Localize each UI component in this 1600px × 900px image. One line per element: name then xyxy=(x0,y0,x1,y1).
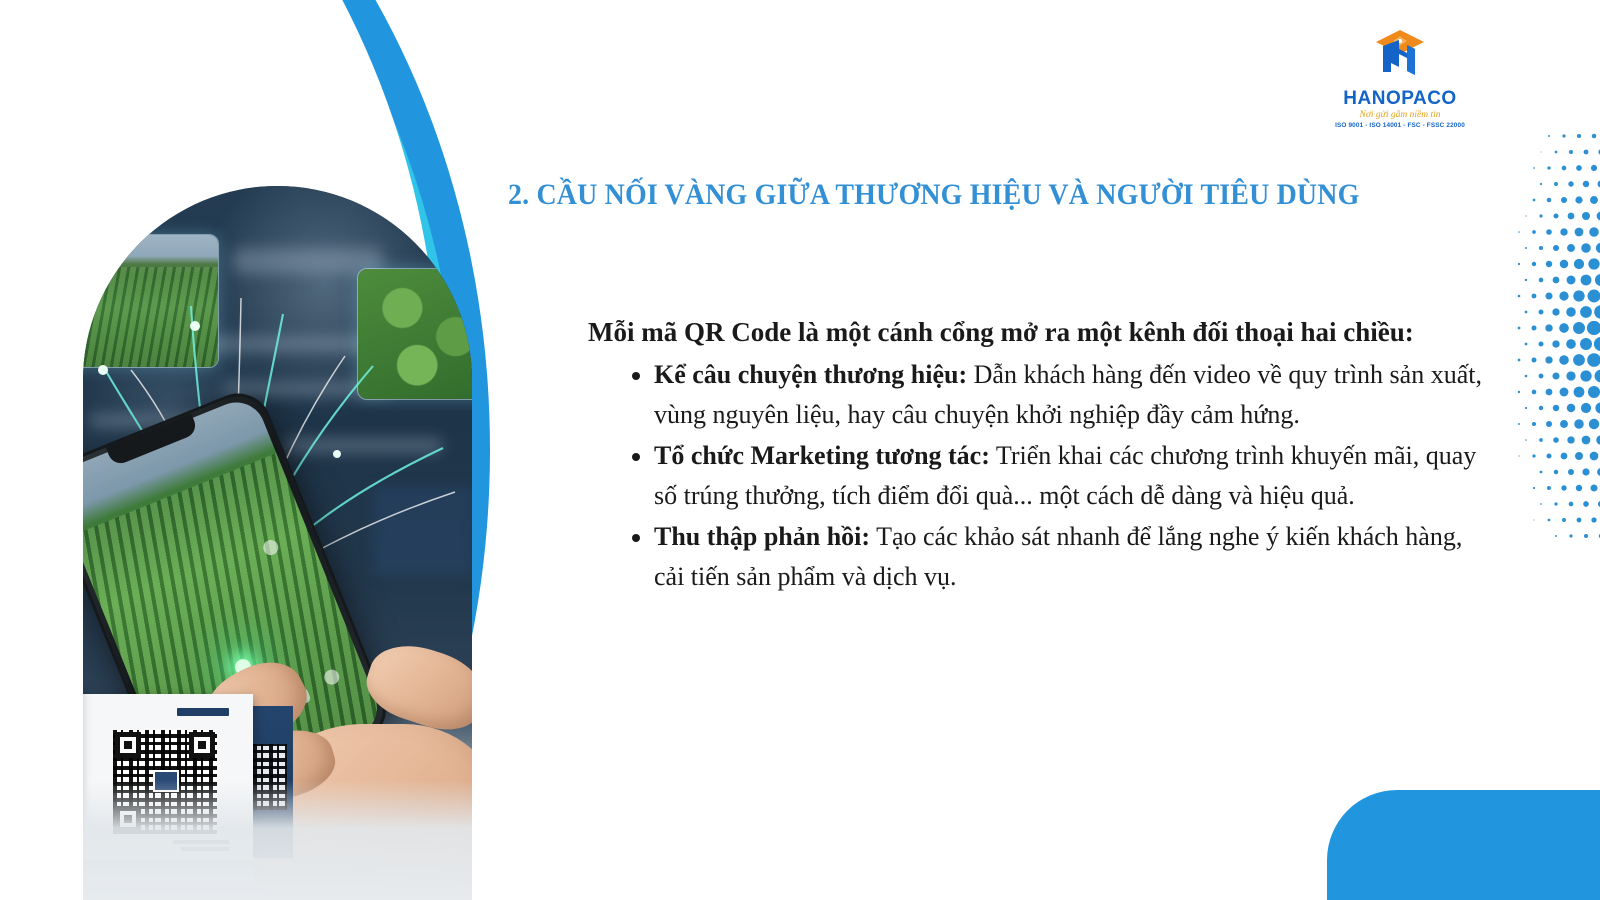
app-icon xyxy=(261,538,281,558)
slide-body: Mỗi mã QR Code là một cánh cổng mở ra mộ… xyxy=(588,312,1488,598)
list-item: Thu thập phản hồi: Tạo các khảo sát nhan… xyxy=(654,517,1488,596)
table-reflection xyxy=(83,780,472,900)
halftone-dots-svg xyxy=(1470,130,1600,550)
slide-title: 2. CẦU NỐI VÀNG GIỮA THƯƠNG HIỆU VÀ NGƯỜ… xyxy=(508,178,1345,211)
bullet-list: Kể câu chuyện thương hiệu: Dẫn khách hàn… xyxy=(654,355,1488,596)
qr-finder-icon xyxy=(115,732,141,758)
bullet-lead: Tổ chức Marketing tương tác: xyxy=(654,441,990,470)
logo-company-name: HANOPACO xyxy=(1330,89,1470,109)
decor-bottom-right-block xyxy=(1327,790,1600,900)
bullet-lead: Kể câu chuyện thương hiệu: xyxy=(654,360,967,389)
logo-tagline: Nơi gửi gắm niềm tin xyxy=(1330,110,1470,120)
qr-brand-label xyxy=(177,708,229,716)
logo-certifications: ISO 9001 - ISO 14001 - FSC - FSSC 22000 xyxy=(1330,122,1470,129)
qr-finder-icon xyxy=(189,732,215,758)
slide-root: HANOPACO Nơi gửi gắm niềm tin ISO 9001 -… xyxy=(0,0,1600,900)
list-item: Tổ chức Marketing tương tác: Triển khai … xyxy=(654,436,1488,515)
company-logo: HANOPACO Nơi gửi gắm niềm tin ISO 9001 -… xyxy=(1330,25,1470,129)
list-item: Kể câu chuyện thương hiệu: Dẫn khách hàn… xyxy=(654,355,1488,434)
halftone-dots-decor xyxy=(1470,130,1600,550)
intro-paragraph: Mỗi mã QR Code là một cánh cổng mở ra mộ… xyxy=(588,312,1488,353)
hanopaco-box-icon xyxy=(1369,25,1431,87)
bullet-lead: Thu thập phản hồi: xyxy=(654,522,870,551)
hero-photo xyxy=(83,186,472,900)
